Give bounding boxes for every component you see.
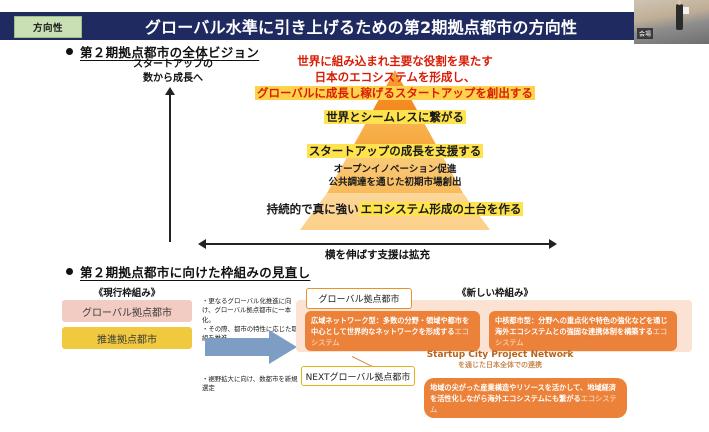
network-label: Startup City Project Network [380, 350, 620, 360]
transition-arrow-icon [205, 330, 297, 364]
pyramid-level2-text: 世界とシームレスに繋がる [324, 110, 466, 124]
slide: 方向性 グローバル水準に引き上げるための第2期拠点都市の方向性 会場 第２期拠点… [0, 0, 709, 432]
note-unify: ・更なるグローバル化推進に向け、グローバル拠点都市に一本化。 [202, 297, 302, 325]
up-arrow-icon [169, 94, 171, 242]
photo-caption: 会場 [637, 28, 653, 39]
pyramid-level4-line1: オープンイノベーション促進 [180, 164, 610, 176]
new-framework-title: 《新しい枠組み》 [430, 285, 560, 299]
arrow-head [269, 330, 297, 364]
person-figure [676, 4, 683, 30]
pyramid-level2: 世界とシームレスに繋がる [180, 110, 610, 124]
pyramid-level4-line2: 公共調達を通じた初期市場創出 [180, 177, 610, 189]
section2-heading: 第２期拠点都市に向けた枠組みの見直し [66, 262, 310, 281]
header-photo: 会場 [634, 0, 709, 44]
bullet-dot-icon [66, 48, 73, 55]
bullet-dot-icon-2 [66, 268, 73, 275]
page-title: グローバル水準に引き上げるための第2期拠点都市の方向性 [96, 13, 626, 39]
tag-next-global-hub-city[interactable]: NEXTグローバル拠点都市 [301, 366, 415, 386]
current-framework-title: 《現行枠組み》 [62, 285, 192, 299]
card1-lead: 広域ネットワーク型： [311, 316, 383, 325]
pyramid-apex-line2: 日本のエコシステムを形成し、 [180, 70, 610, 84]
header-badge: 方向性 [14, 16, 82, 38]
pyramid-base: 持続的で真に強いエコシステム形成の土台を作る [180, 202, 610, 216]
arrow-shaft [205, 338, 271, 356]
card-wide-network-type: 広域ネットワーク型：多数の分野・領域や都市を中心として世界的なネットワークを形成… [305, 311, 480, 351]
vision-pyramid: 世界に組み込まれ主要な役割を果たす 日本のエコシステムを形成し、 グローバルに成… [180, 48, 610, 238]
width-arrow-icon [205, 243, 550, 245]
current-box-promotion[interactable]: 推進拠点都市 [62, 327, 192, 349]
card-next-global: 地域の尖がった産業構造やリソースを活かして、地域経済を活性化しながら海外エコシス… [424, 378, 627, 418]
card2-lead: 中核都市型： [495, 316, 538, 325]
pyramid-apex-line1: 世界に組み込まれ主要な役割を果たす [180, 54, 610, 68]
section2-heading-label: 第２期拠点都市に向けた枠組みの見直し [80, 262, 310, 281]
pyramid-base-plain: 持続的で真に強い [267, 202, 359, 216]
pyramid-base-highlight: エコシステム形成の土台を作る [359, 202, 524, 216]
tag-global-hub-city[interactable]: グローバル拠点都市 [306, 288, 412, 309]
note-new-selection: ・裾野拡大に向け、数都市を新規選定 [202, 375, 302, 394]
pyramid-level3: スタートアップの成長を支援する [180, 144, 610, 158]
pyramid-level3-text: スタートアップの成長を支援する [307, 144, 484, 158]
width-arrow-label: 横を伸ばす支援は拡充 [205, 247, 550, 262]
current-box-global[interactable]: グローバル拠点都市 [62, 300, 192, 322]
paper-shape [683, 7, 689, 14]
pyramid-apex-line3: グローバルに成長し稼げるスタートアップを創出する [180, 86, 610, 100]
pyramid-apex-line3-text: グローバルに成長し稼げるスタートアップを創出する [255, 86, 535, 100]
network-sublabel: を通じた日本全体での連携 [380, 360, 620, 370]
